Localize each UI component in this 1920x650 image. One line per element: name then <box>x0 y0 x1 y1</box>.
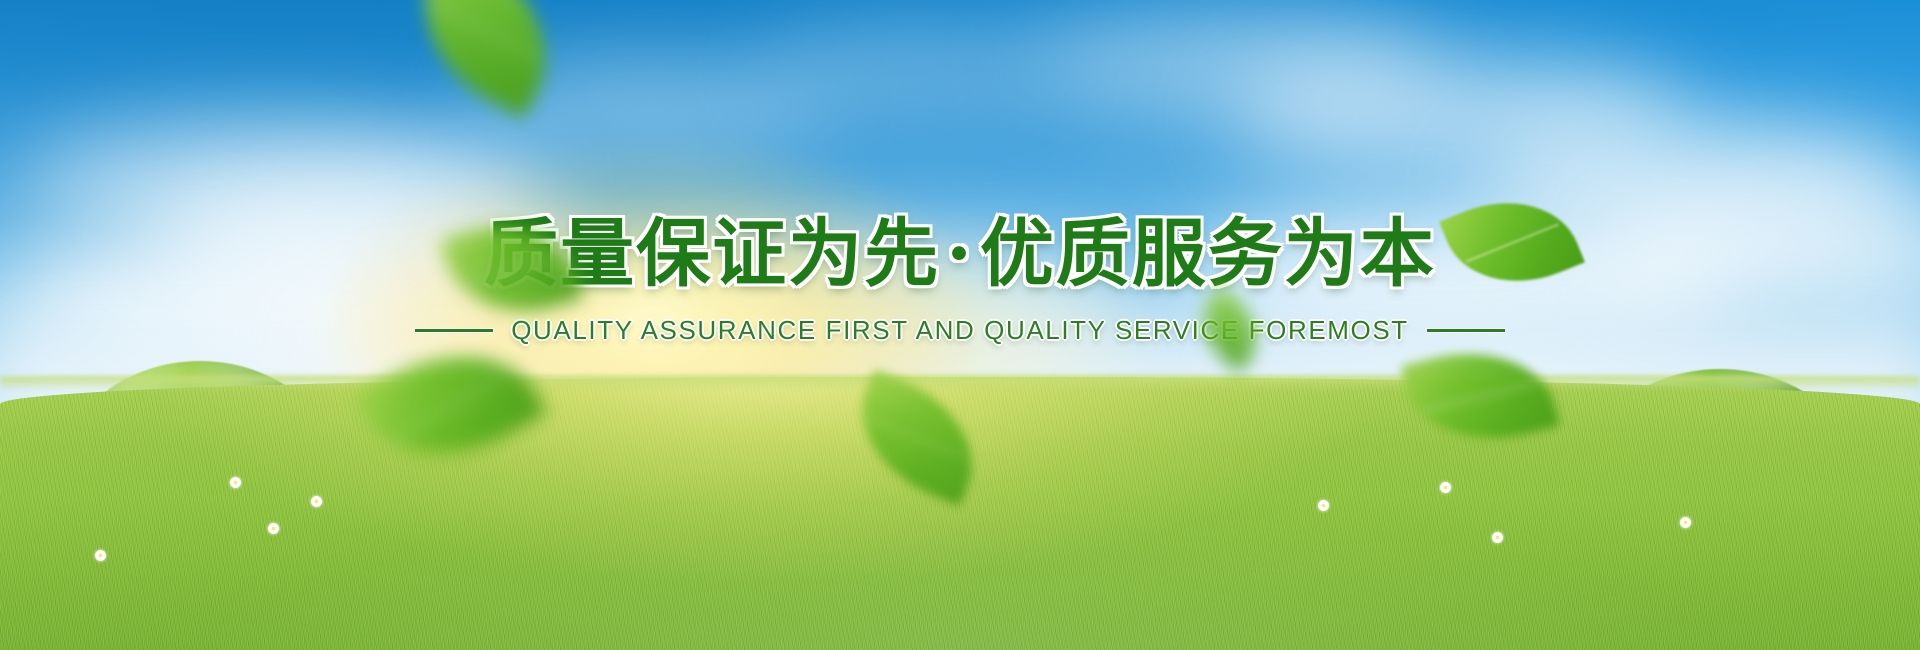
leaf-vein <box>429 0 541 60</box>
grass-field <box>0 377 1920 650</box>
grass-top-edge <box>0 375 1920 391</box>
leaf-vein <box>1207 311 1253 350</box>
leaf-vein <box>464 253 560 286</box>
flower-5 <box>1492 532 1503 543</box>
hero-banner: 质量保证为先·优质服务为本 QUALITY ASSURANCE FIRST AN… <box>0 0 1920 650</box>
banner-subtitle: QUALITY ASSURANCE FIRST AND QUALITY SERV… <box>511 315 1409 346</box>
grass-sun-highlight <box>0 377 1920 650</box>
flower-1 <box>268 523 279 534</box>
leaf-vein <box>1423 382 1537 412</box>
headline-separator: · <box>940 211 980 297</box>
leaf-vein <box>866 417 968 459</box>
flower-0 <box>230 477 241 488</box>
cloud-4 <box>760 30 1060 110</box>
leaf-vein <box>392 371 509 439</box>
subtitle-row: QUALITY ASSURANCE FIRST AND QUALITY SERV… <box>260 315 1660 346</box>
flower-7 <box>1680 517 1691 528</box>
leaf-vein <box>1465 223 1559 262</box>
headline-right: 优质服务为本 <box>980 211 1436 297</box>
flower-4 <box>1440 482 1451 493</box>
subtitle-rule-right <box>1427 329 1505 332</box>
flower-3 <box>1318 500 1329 511</box>
flower-2 <box>311 496 322 507</box>
subtitle-rule-left <box>415 329 493 332</box>
flower-6 <box>95 550 106 561</box>
